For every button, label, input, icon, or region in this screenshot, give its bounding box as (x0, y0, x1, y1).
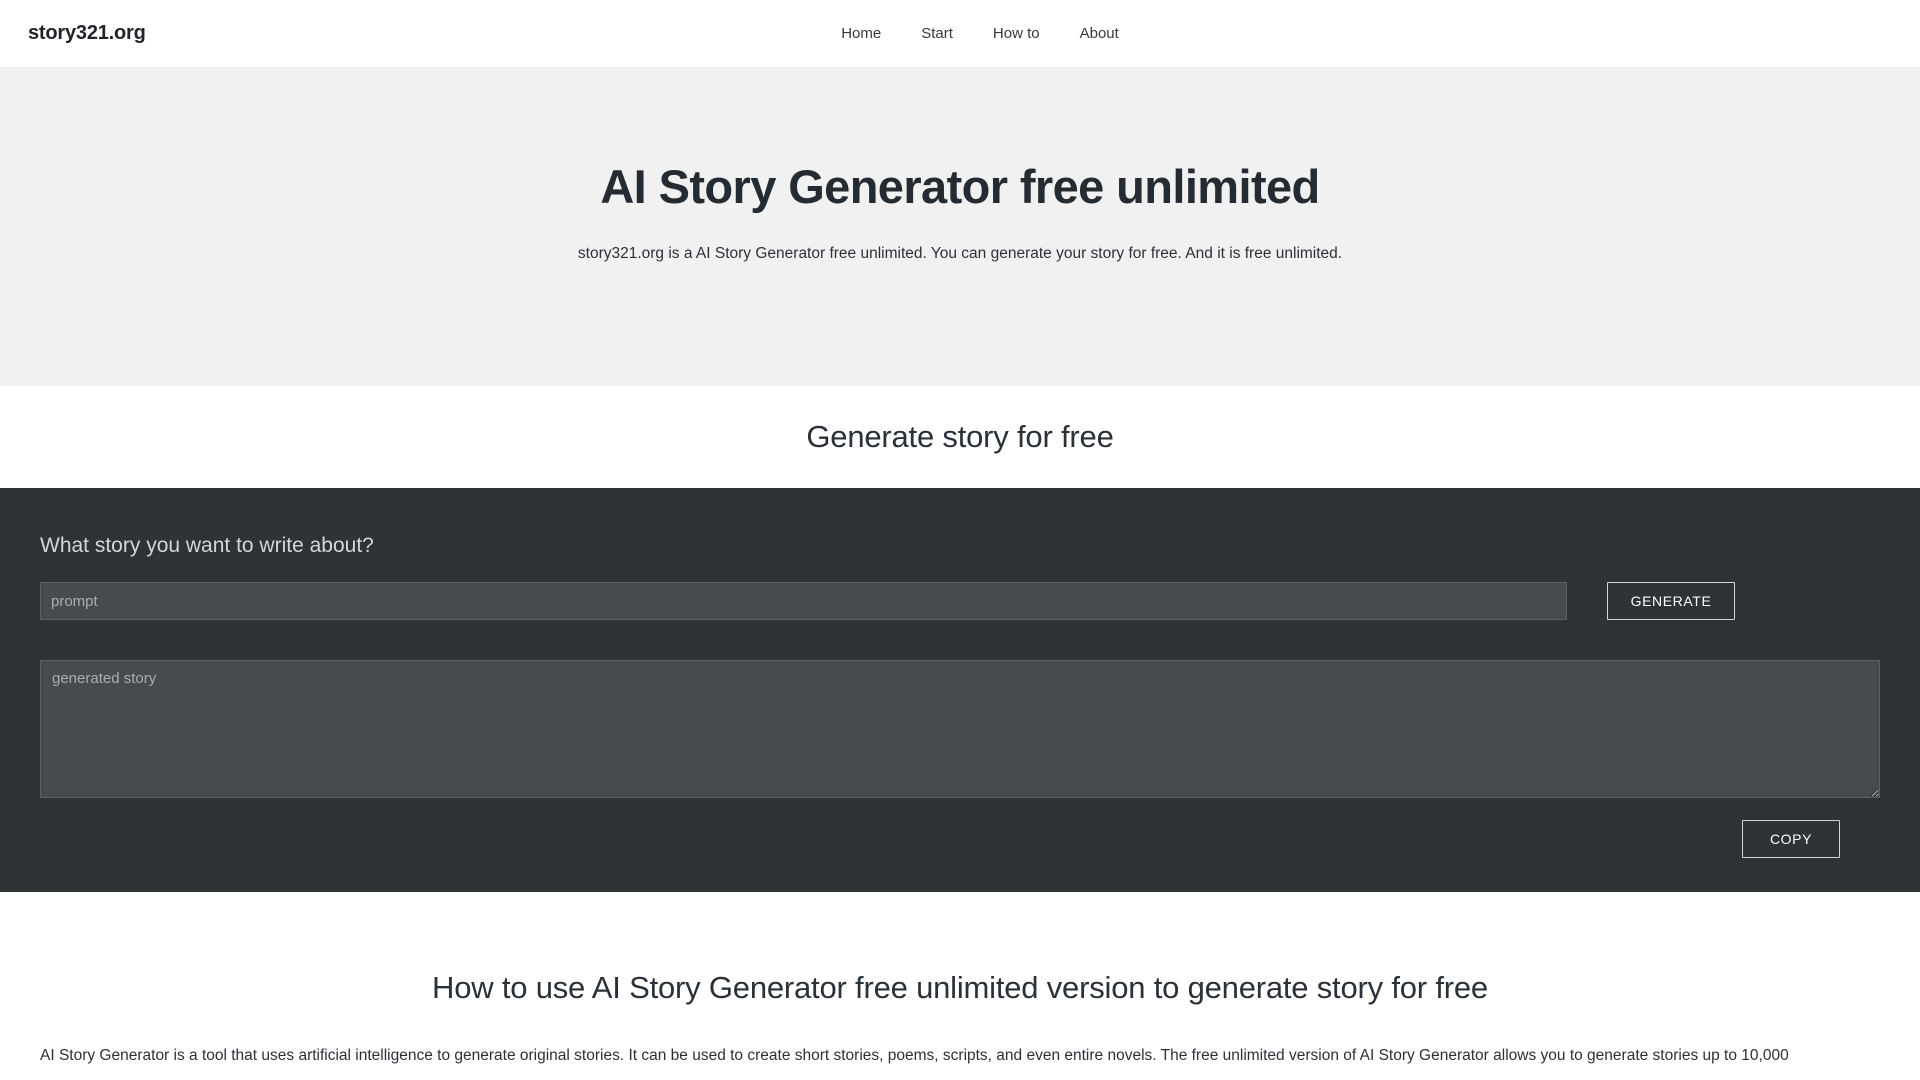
generator-heading-wrap: Generate story for free (0, 386, 1920, 488)
prompt-input[interactable] (40, 582, 1567, 620)
brand-logo[interactable]: story321.org (28, 22, 146, 45)
page-title: AI Story Generator free unlimited (0, 160, 1920, 214)
prompt-row: GENERATE (40, 582, 1880, 620)
nav-item-how-to[interactable]: How to (993, 26, 1040, 41)
nav-item-about[interactable]: About (1080, 26, 1119, 41)
copy-button[interactable]: COPY (1742, 820, 1840, 858)
nav-item-start[interactable]: Start (921, 26, 953, 41)
howto-section: How to use AI Story Generator free unlim… (0, 892, 1920, 1069)
prompt-label: What story you want to write about? (40, 534, 1880, 558)
generator-panel: What story you want to write about? GENE… (0, 488, 1920, 892)
howto-paragraph: AI Story Generator is a tool that uses a… (40, 1044, 1880, 1069)
copy-row: COPY (40, 820, 1880, 858)
nav-item-home[interactable]: Home (841, 26, 881, 41)
navbar: story321.org Home Start How to About (0, 0, 1920, 68)
howto-title: How to use AI Story Generator free unlim… (40, 970, 1880, 1006)
hero-subtitle: story321.org is a AI Story Generator fre… (0, 242, 1920, 265)
generated-story-textarea[interactable] (40, 660, 1880, 798)
generate-button[interactable]: GENERATE (1607, 582, 1735, 620)
main-nav: Home Start How to About (801, 26, 1119, 41)
hero-section: AI Story Generator free unlimited story3… (0, 68, 1920, 386)
generator-section-heading: Generate story for free (806, 419, 1113, 455)
